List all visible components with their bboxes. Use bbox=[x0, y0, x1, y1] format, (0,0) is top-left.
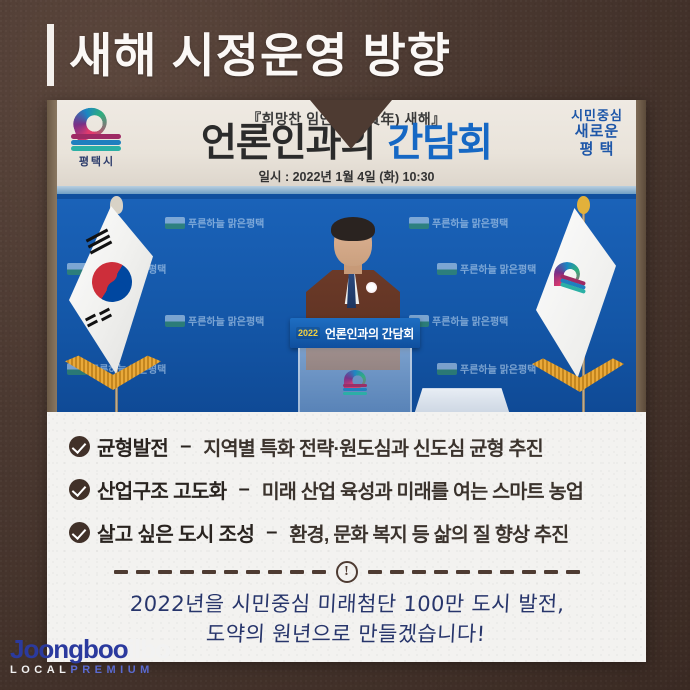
watermark-tagline: LOCALPREMIUM bbox=[10, 665, 170, 676]
slogan-line-2: 새로운 bbox=[558, 123, 636, 141]
bullet-keyword: 산업구조 고도화 bbox=[97, 475, 227, 504]
handwritten-line-1: 2022년을 시민중심 미래첨단 100만 도시 발전, bbox=[69, 589, 626, 619]
check-circle-icon bbox=[69, 522, 90, 543]
bullet-dash: – bbox=[239, 478, 250, 501]
watermark-brand-part1: Joongboo bbox=[10, 634, 128, 664]
watermark-tagline-part1: LOCAL bbox=[10, 664, 70, 676]
boutonniere-icon bbox=[366, 282, 377, 293]
wall-logo: 푸른하늘 맑은평택 bbox=[409, 215, 508, 230]
banner-slogan: 시민중심 새로운 평 택 bbox=[558, 108, 636, 159]
chevron-down-icon bbox=[310, 100, 392, 149]
bullet-detail: 미래 산업 육성과 미래를 여는 스마트 농업 bbox=[262, 475, 583, 504]
laptop bbox=[415, 388, 509, 412]
bullet-dash: – bbox=[180, 435, 191, 458]
bullet-keyword: 살고 싶은 도시 조성 bbox=[97, 518, 254, 547]
title-accent-bar bbox=[47, 24, 54, 86]
korean-flag-icon bbox=[55, 200, 173, 412]
podium: 2022 언론인과의 간담회 bbox=[290, 318, 420, 412]
list-item: 산업구조 고도화 – 미래 산업 육성과 미래를 여는 스마트 농업 bbox=[69, 475, 624, 504]
list-item: 살고 싶은 도시 조성 – 환경, 문화 복지 등 삶의 질 향상 추진 bbox=[69, 518, 624, 547]
podium-year: 2022 bbox=[296, 327, 320, 339]
wall-logo: 푸른하늘 맑은평택 bbox=[409, 313, 508, 328]
watermark-brand: Joongbooilbo bbox=[10, 636, 170, 662]
section-divider: ! bbox=[69, 561, 624, 583]
banner-underline-blue bbox=[47, 194, 646, 199]
podium-city-logo-icon bbox=[342, 370, 368, 394]
watermark-tagline-part2: PREMIUM bbox=[70, 664, 153, 676]
slogan-line-3: 평 택 bbox=[558, 141, 636, 159]
check-circle-icon bbox=[69, 436, 90, 457]
banner-underline bbox=[47, 186, 646, 194]
speaker-hair bbox=[331, 217, 375, 241]
banner-title-blue: 간담회 bbox=[387, 122, 492, 165]
slogan-line-1: 시민중심 bbox=[558, 108, 636, 123]
wall-logo-icon bbox=[437, 263, 457, 275]
watermark-logo: Joongbooilbo LOCALPREMIUM bbox=[10, 636, 170, 676]
wall-logo: 푸른하늘 맑은평택 bbox=[165, 215, 264, 230]
poster-canvas: 새해 시정운영 방향 푸른하늘 맑은평택 푸른하늘 맑은평택 푸른하늘 맑은평택… bbox=[0, 0, 690, 690]
bullet-keyword: 균형발전 bbox=[97, 432, 168, 461]
wall-edge-right bbox=[636, 100, 646, 412]
watermark-brand-part2: ilbo bbox=[128, 634, 170, 664]
wall-logo: 푸른하늘 맑은평택 bbox=[165, 313, 264, 328]
bullet-detail: 환경, 문화 복지 등 삶의 질 향상 추진 bbox=[289, 518, 568, 547]
list-item: 균형발전 – 지역별 특화 전략·원도심과 신도심 균형 추진 bbox=[69, 432, 624, 461]
page-title-text: 새해 시정운영 방향 bbox=[69, 32, 451, 79]
podium-label: 언론인과의 간담회 bbox=[325, 325, 414, 342]
summary-panel: 균형발전 – 지역별 특화 전략·원도심과 신도심 균형 추진 산업구조 고도화… bbox=[47, 412, 646, 662]
wall-logo-icon bbox=[409, 217, 429, 229]
event-photo: 푸른하늘 맑은평택 푸른하늘 맑은평택 푸른하늘 맑은평택 푸른하늘 맑은평택 … bbox=[47, 100, 646, 412]
wall-logo-icon bbox=[437, 363, 457, 375]
podium-sign: 2022 언론인과의 간담회 bbox=[290, 318, 420, 348]
check-circle-icon bbox=[69, 479, 90, 500]
page-title: 새해 시정운영 방향 bbox=[47, 20, 451, 90]
bullet-detail: 지역별 특화 전략·원도심과 신도심 균형 추진 bbox=[203, 432, 543, 461]
pyeongtaek-flag-icon bbox=[518, 200, 636, 412]
bullet-dash: – bbox=[266, 521, 277, 544]
wall-edge-left bbox=[47, 100, 57, 412]
banner-date: 일시 : 2022년 1월 4일 (화) 10:30 bbox=[47, 166, 646, 185]
content-card: 푸른하늘 맑은평택 푸른하늘 맑은평택 푸른하늘 맑은평택 푸른하늘 맑은평택 … bbox=[47, 100, 646, 662]
exclamation-circle-icon: ! bbox=[336, 561, 358, 583]
